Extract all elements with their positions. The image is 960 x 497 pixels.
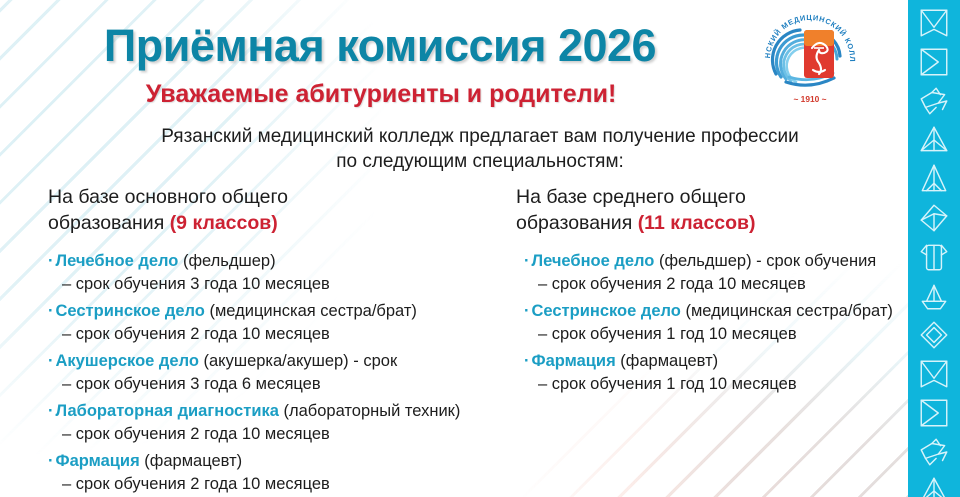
specialty-list-base-9: ·Лечебное дело (фельдшер) – срок обучени…	[48, 250, 518, 496]
specialty-duration: – срок обучения 3 года 10 месяцев	[48, 273, 518, 296]
column-heading-line-2: образования (9 классов)	[48, 210, 518, 236]
list-item: ·Лечебное дело (фельдшер) - срок обучени…	[524, 250, 916, 296]
specialty-name: Сестринское дело	[56, 302, 205, 320]
specialty-name: Акушерское дело	[56, 352, 199, 370]
college-logo: РЯЗАНСКИЙ МЕДИЦИНСКИЙ КОЛЛЕДЖ	[756, 4, 864, 112]
specialty-role: (лабораторный техник)	[279, 402, 460, 420]
bullet-icon: ·	[48, 302, 54, 320]
list-item: ·Сестринское дело (медицинская сестра/бр…	[48, 300, 518, 346]
origami-triangle-icon	[917, 474, 951, 497]
specialty-list-base-11: ·Лечебное дело (фельдшер) - срок обучени…	[524, 250, 916, 396]
specialty-role: (фельдшер) - срок обучения	[654, 252, 876, 270]
list-item: ·Фармация (фармацевт) – срок обучения 2 …	[48, 450, 518, 496]
column-heading-line-2: образования (11 классов)	[516, 210, 916, 236]
specialty-line: ·Сестринское дело (медицинская сестра/бр…	[48, 300, 518, 323]
origami-shirt-icon	[917, 240, 951, 274]
specialty-name: Сестринское дело	[532, 302, 681, 320]
intro-paragraph: Рязанский медицинский колледж предлагает…	[60, 124, 900, 174]
intro-line-2: по следующим специальностям:	[60, 149, 900, 174]
origami-tent-icon	[917, 162, 951, 196]
specialty-role: (акушерка/акушер) - срок	[199, 352, 397, 370]
bullet-icon: ·	[524, 252, 530, 270]
origami-envelope-icon	[917, 357, 951, 391]
specialty-line: ·Фармация (фармацевт)	[48, 450, 518, 473]
specialty-duration: – срок обучения 2 года 10 месяцев	[524, 273, 916, 296]
origami-bird-icon	[917, 435, 951, 469]
specialty-role: (фельдшер)	[178, 252, 275, 270]
specialty-line: ·Лабораторная диагностика (лабораторный …	[48, 400, 518, 423]
specialty-line: ·Сестринское дело (медицинская сестра/бр…	[524, 300, 916, 323]
origami-bird-icon	[917, 84, 951, 118]
column-heading-prefix: образования	[516, 212, 638, 234]
specialty-role: (фармацевт)	[140, 452, 242, 470]
origami-rhombus-icon	[917, 318, 951, 352]
specialty-role: (медицинская сестра/брат)	[681, 302, 893, 320]
bullet-icon: ·	[48, 402, 54, 420]
list-item: ·Сестринское дело (медицинская сестра/бр…	[524, 300, 916, 346]
specialty-name: Лечебное дело	[532, 252, 655, 270]
origami-diamond-fold-icon	[917, 201, 951, 235]
specialty-line: ·Акушерское дело (акушерка/акушер) - сро…	[48, 350, 518, 373]
specialty-duration: – срок обучения 2 года 10 месяцев	[48, 423, 518, 446]
column-base-9: На базе основного общего образования (9 …	[48, 184, 518, 497]
specialty-name: Фармация	[532, 352, 616, 370]
specialty-role: (фармацевт)	[616, 352, 718, 370]
svg-text:~ 1910 ~: ~ 1910 ~	[793, 94, 826, 104]
specialty-duration: – срок обучения 3 года 6 месяцев	[48, 373, 518, 396]
specialty-duration: – срок обучения 2 года 10 месяцев	[48, 473, 518, 496]
list-item: ·Лечебное дело (фельдшер) – срок обучени…	[48, 250, 518, 296]
specialty-line: ·Лечебное дело (фельдшер) - срок обучени…	[524, 250, 916, 273]
list-item: ·Лабораторная диагностика (лабораторный …	[48, 400, 518, 446]
origami-triangle-icon	[917, 123, 951, 157]
bullet-icon: ·	[524, 352, 530, 370]
column-base-11: На базе среднего общего образования (11 …	[516, 184, 916, 400]
bullet-icon: ·	[48, 352, 54, 370]
bullet-icon: ·	[48, 452, 54, 470]
intro-line-1: Рязанский медицинский колледж предлагает…	[60, 124, 900, 149]
column-heading-base-9: На базе основного общего образования (9 …	[48, 184, 518, 236]
specialty-line: ·Лечебное дело (фельдшер)	[48, 250, 518, 273]
specialty-name: Лечебное дело	[56, 252, 179, 270]
bullet-icon: ·	[524, 302, 530, 320]
specialty-name: Лабораторная диагностика	[56, 402, 279, 420]
admissions-poster: РЯЗАНСКИЙ МЕДИЦИНСКИЙ КОЛЛЕДЖ	[0, 0, 960, 497]
origami-boat-icon	[917, 279, 951, 313]
page-subtitle: Уважаемые абитуриенты и родители!	[0, 80, 762, 109]
column-heading-prefix: образования	[48, 212, 170, 234]
decorative-sidebar	[908, 0, 960, 497]
bullet-icon: ·	[48, 252, 54, 270]
origami-arrow-square-icon	[917, 396, 951, 430]
column-heading-accent: (11 классов)	[638, 212, 756, 234]
column-heading-line-1: На базе среднего общего	[516, 184, 916, 210]
specialty-line: ·Фармация (фармацевт)	[524, 350, 916, 373]
specialty-duration: – срок обучения 1 год 10 месяцев	[524, 323, 916, 346]
page-title: Приёмная комиссия 2026	[0, 20, 760, 72]
column-heading-base-11: На базе среднего общего образования (11 …	[516, 184, 916, 236]
list-item: ·Акушерское дело (акушерка/акушер) - сро…	[48, 350, 518, 396]
list-item: ·Фармация (фармацевт) – срок обучения 1 …	[524, 350, 916, 396]
origami-arrow-square-icon	[917, 45, 951, 79]
specialty-duration: – срок обучения 1 год 10 месяцев	[524, 373, 916, 396]
specialty-role: (медицинская сестра/брат)	[205, 302, 417, 320]
column-heading-accent: (9 классов)	[170, 212, 278, 234]
column-heading-line-1: На базе основного общего	[48, 184, 518, 210]
specialty-name: Фармация	[56, 452, 140, 470]
specialty-duration: – срок обучения 2 года 10 месяцев	[48, 323, 518, 346]
origami-envelope-icon	[917, 6, 951, 40]
